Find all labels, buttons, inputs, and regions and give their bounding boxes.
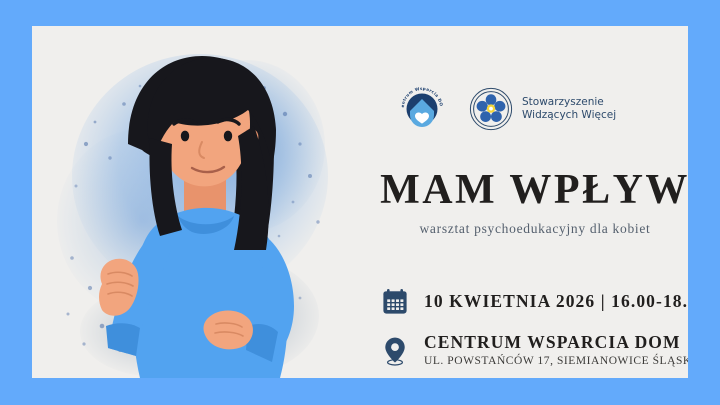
event-address: UL. POWSTAŃCÓW 17, SIEMIANOWICE ŚLĄSKIE <box>424 354 688 369</box>
calendar-icon <box>380 284 410 318</box>
stowarzyszenie-widzacych-wiecej-logo: Stowarzyszenie Widzących Więcej <box>469 87 616 131</box>
map-pin-icon <box>380 334 410 368</box>
event-date-text: 10 KWIETNIA 2026 | 16.00-18.00 <box>424 291 688 311</box>
centrum-wsparcia-dom-logo: Centrum Wsparcia DOM <box>397 81 447 136</box>
event-details: 10 KWIETNIA 2026 | 16.00-18.00 CENTRUM W… <box>380 284 688 369</box>
page-title: MAM WPŁYW <box>350 168 688 212</box>
logo-row: Centrum Wsparcia DOM <box>397 81 616 136</box>
poster: Centrum Wsparcia DOM <box>0 0 720 405</box>
event-date-value: 10 KWIETNIA 2026 | 16.00-18.00 <box>424 291 688 311</box>
page-subtitle: warsztat psychoedukacyjny dla kobiet <box>350 221 688 237</box>
event-location-row: CENTRUM WSPARCIA DOM UL. POWSTAŃCÓW 17, … <box>380 332 688 369</box>
event-venue-name: CENTRUM WSPARCIA DOM <box>424 332 688 352</box>
event-date-row: 10 KWIETNIA 2026 | 16.00-18.00 <box>380 284 688 318</box>
event-location-text: CENTRUM WSPARCIA DOM UL. POWSTAŃCÓW 17, … <box>424 332 688 369</box>
poster-card: Centrum Wsparcia DOM <box>32 26 688 378</box>
forget-me-not-flower-icon <box>469 87 513 131</box>
headline-block: MAM WPŁYW warsztat psychoedukacyjny dla … <box>350 168 688 237</box>
logo-right-label: Stowarzyszenie Widzących Więcej <box>522 96 616 121</box>
woman-raised-fist-illustration <box>32 26 332 378</box>
